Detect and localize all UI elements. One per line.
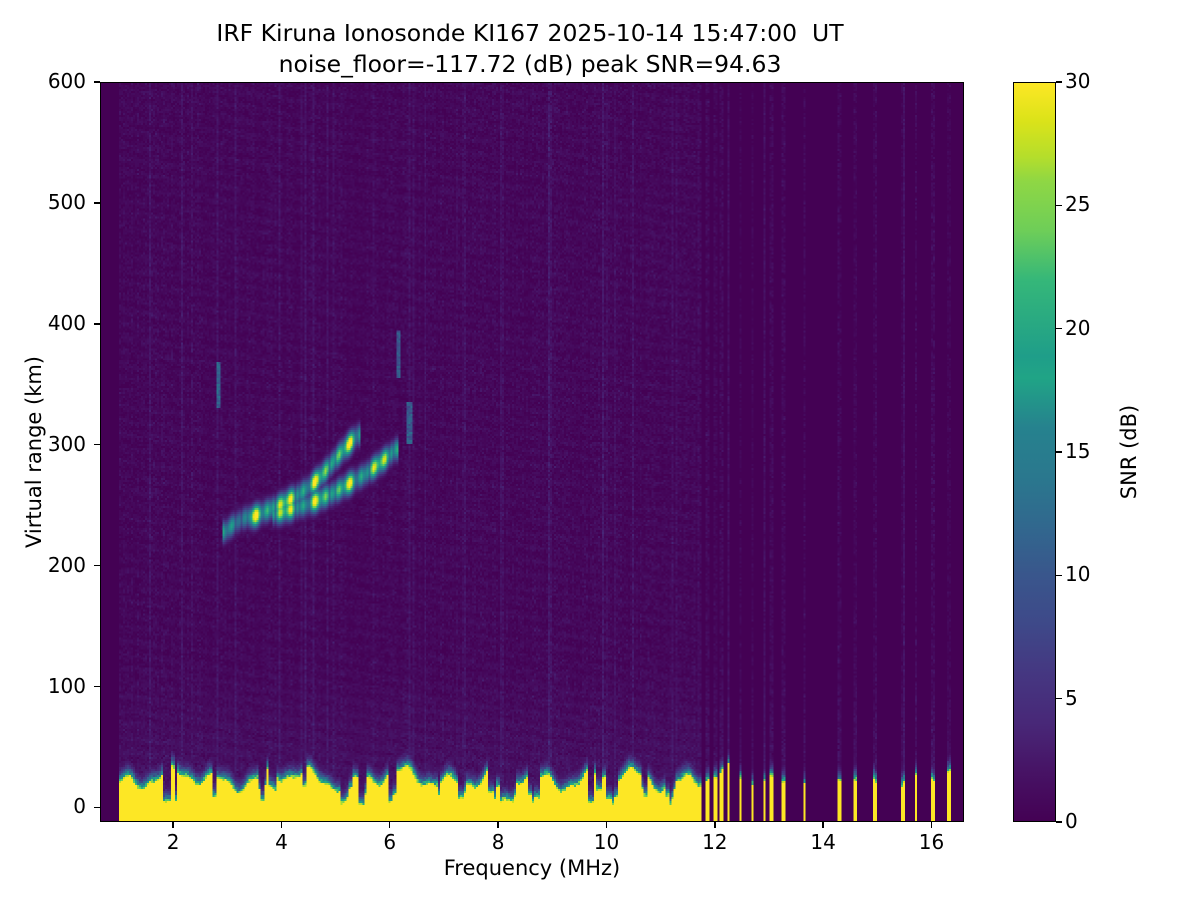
x-axis-tick	[281, 822, 282, 828]
x-axis-tick	[172, 822, 173, 828]
y-axis-tick	[94, 686, 100, 687]
x-axis-tick	[497, 822, 498, 828]
chart-subtitle: noise_floor=-117.72 (dB) peak SNR=94.63	[0, 49, 1060, 80]
x-axis-tick	[822, 822, 823, 828]
ionogram-heatmap	[101, 83, 963, 821]
colorbar-tick-label: 15	[1065, 439, 1090, 463]
x-axis-tick	[606, 822, 607, 828]
colorbar-tick	[1056, 821, 1062, 822]
colorbar-tick	[1056, 451, 1062, 452]
y-axis-label: Virtual range (km)	[22, 82, 48, 822]
y-axis-tick	[94, 323, 100, 324]
colorbar-tick-label: 30	[1065, 69, 1090, 93]
x-axis-label: Frequency (MHz)	[100, 856, 964, 880]
y-axis-tick	[94, 444, 100, 445]
y-axis-tick	[94, 202, 100, 203]
colorbar-tick-label: 25	[1065, 192, 1090, 216]
chart-title-block: IRF Kiruna Ionosonde KI167 2025-10-14 15…	[0, 18, 1060, 79]
colorbar-tick-label: 5	[1065, 686, 1078, 710]
colorbar-tick	[1056, 205, 1062, 206]
x-axis-tick-label: 12	[680, 830, 750, 854]
colorbar-tick-label: 10	[1065, 562, 1090, 586]
colorbar	[1013, 82, 1056, 822]
x-axis-tick-label: 2	[138, 830, 208, 854]
x-axis-tick-label: 16	[896, 830, 966, 854]
x-axis-tick-label: 14	[788, 830, 858, 854]
colorbar-tick-label: 20	[1065, 316, 1090, 340]
x-axis-tick-label: 6	[355, 830, 425, 854]
colorbar-label: SNR (dB)	[1117, 82, 1143, 822]
colorbar-tick	[1056, 81, 1062, 82]
ionogram-figure: IRF Kiruna Ionosonde KI167 2025-10-14 15…	[0, 0, 1200, 900]
x-axis-tick	[931, 822, 932, 828]
x-axis-tick	[714, 822, 715, 828]
colorbar-tick	[1056, 575, 1062, 576]
y-axis-tick	[94, 807, 100, 808]
colorbar-tick	[1056, 328, 1062, 329]
colorbar-tick	[1056, 698, 1062, 699]
x-axis-tick-label: 4	[246, 830, 316, 854]
x-axis-tick	[389, 822, 390, 828]
page-title: IRF Kiruna Ionosonde KI167 2025-10-14 15…	[0, 18, 1060, 49]
x-axis-tick-label: 8	[463, 830, 533, 854]
colorbar-tick-label: 0	[1065, 809, 1078, 833]
heatmap-plot-area	[100, 82, 964, 822]
x-axis-tick-label: 10	[571, 830, 641, 854]
y-axis-tick	[94, 81, 100, 82]
y-axis-tick	[94, 565, 100, 566]
